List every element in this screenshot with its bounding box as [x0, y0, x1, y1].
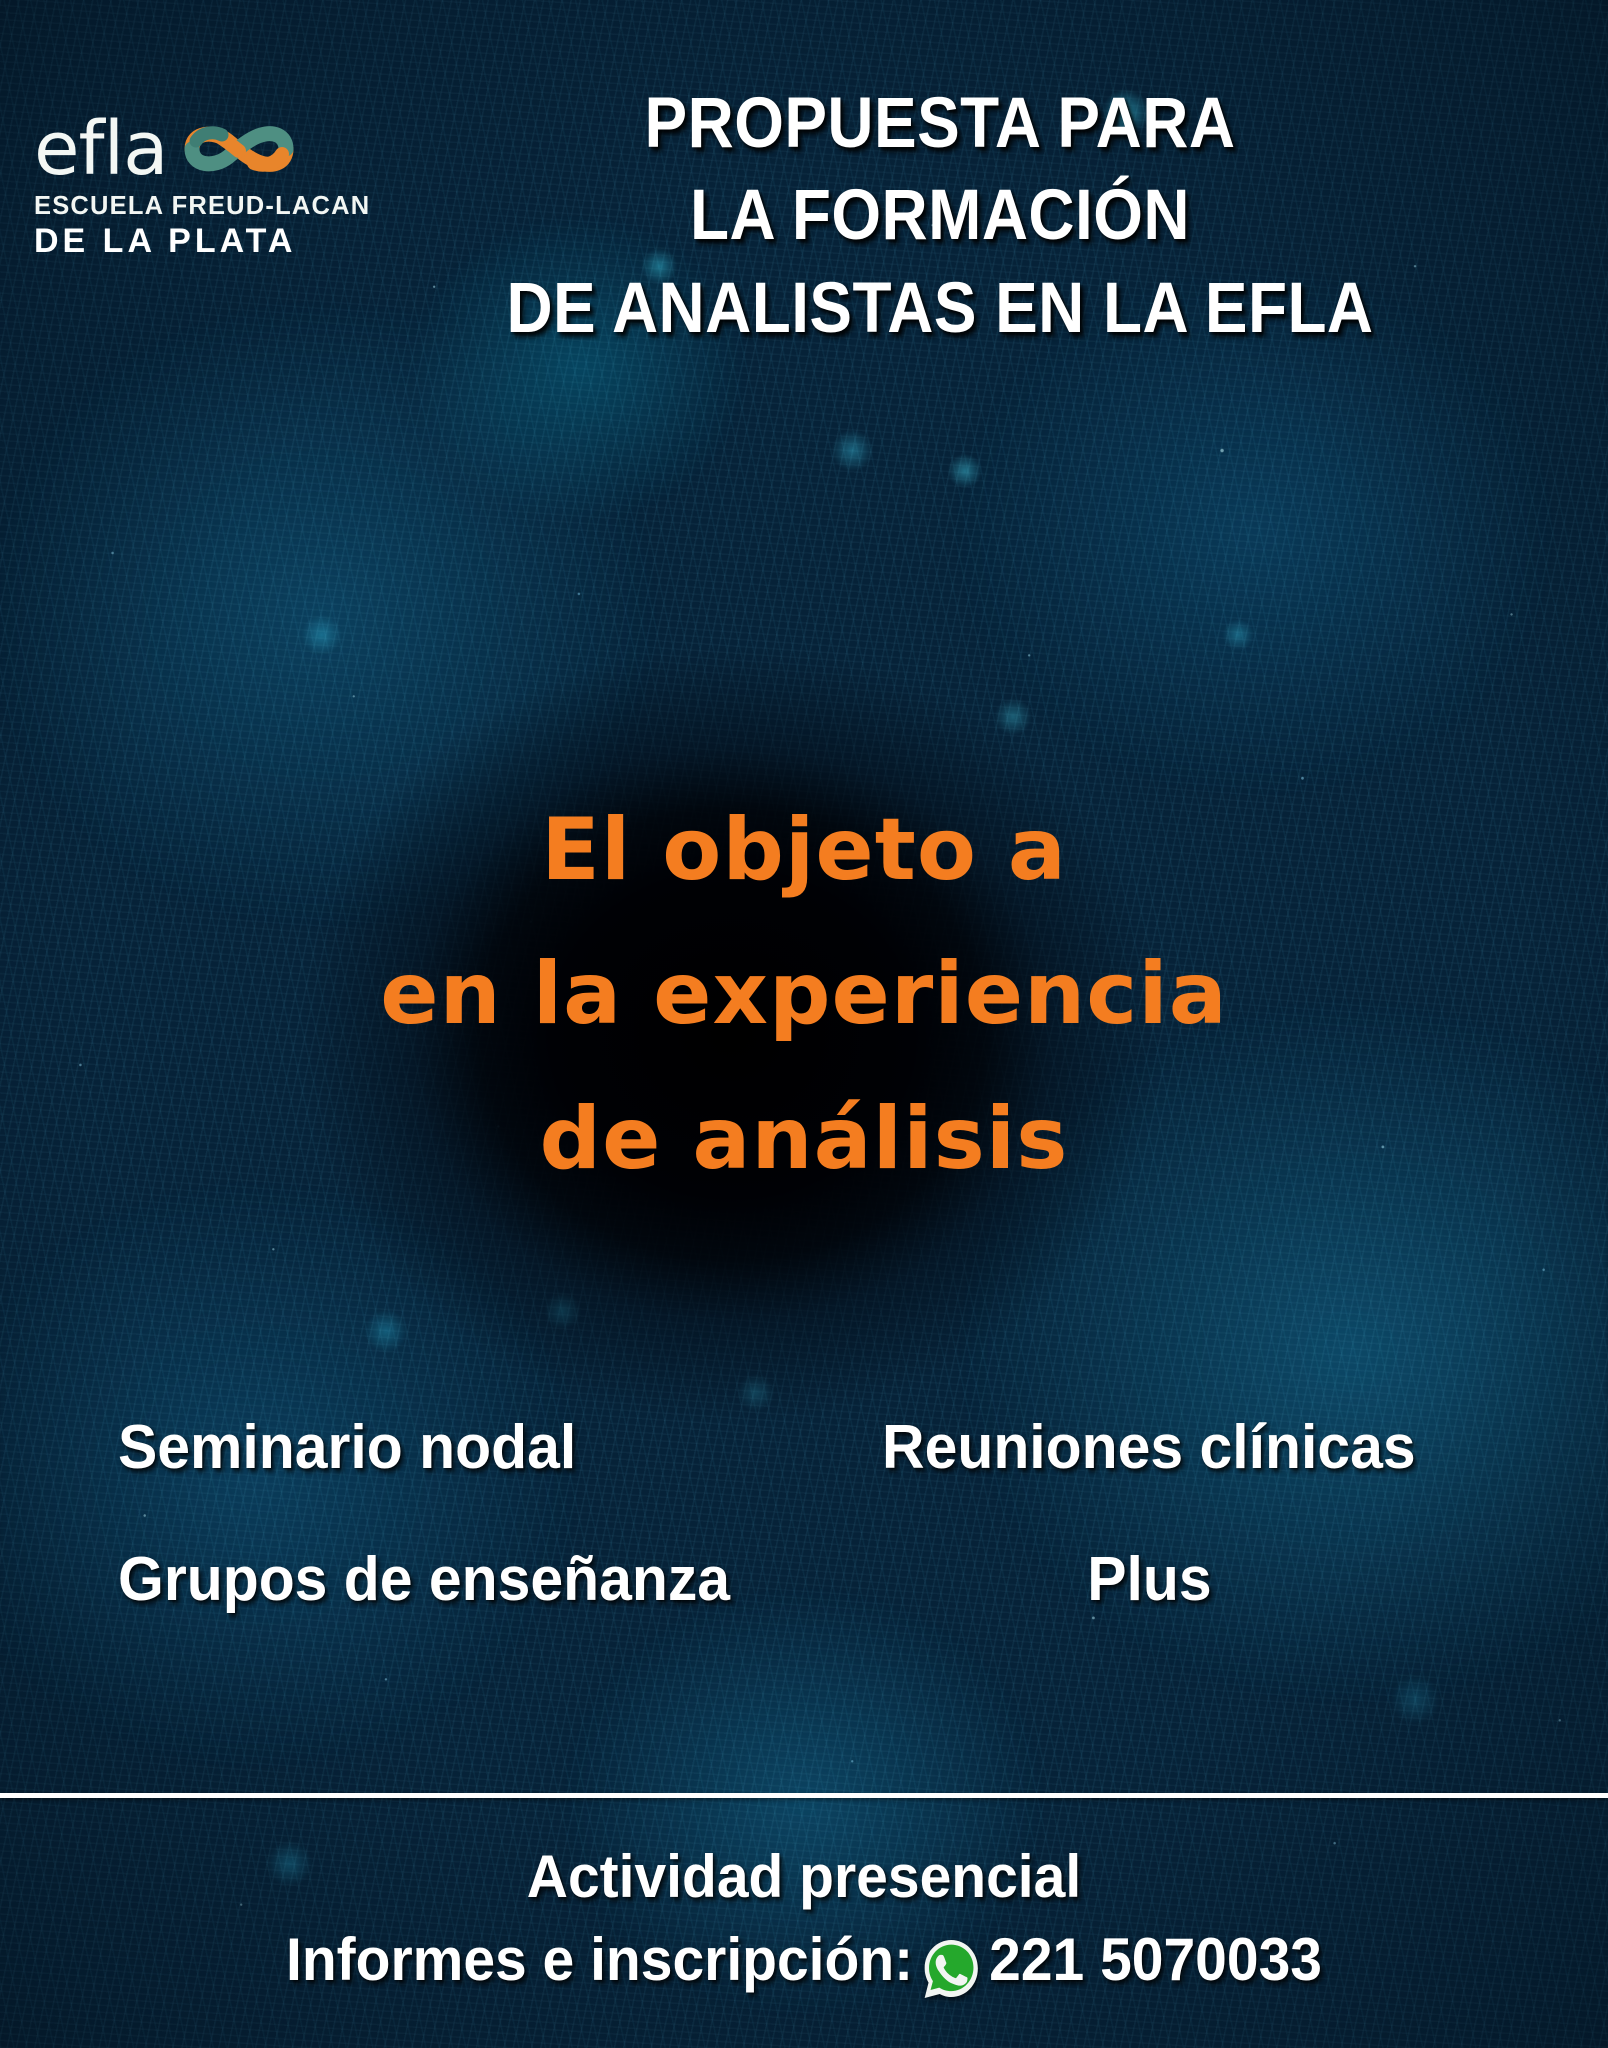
poster: efla ESCUELA FREUD-LACAN DE LA PLATA PRO… — [0, 0, 1608, 2048]
logo-subtitle-line1: ESCUELA FREUD-LACAN — [34, 192, 334, 221]
headline-line-1: PROPUESTA PARA — [364, 78, 1516, 170]
headline-line-3: DE ANALISTAS EN LA EFLA — [364, 263, 1516, 355]
title-line-2: en la experiencia — [0, 922, 1608, 1066]
activity-cell-left: Grupos de enseñanza — [96, 1544, 778, 1615]
footer-phone[interactable]: 221 5070033 — [989, 1919, 1322, 2002]
activity-cell-right: Plus — [778, 1544, 1520, 1615]
contact-inline: Informes e inscripción: 221 5070033 — [286, 1919, 1322, 2002]
activity-cell-left: Seminario nodal — [96, 1412, 778, 1483]
activities-row: Seminario nodal Reuniones clínicas — [96, 1412, 1520, 1544]
activity-seminario-nodal: Seminario nodal — [118, 1412, 576, 1483]
headline-line-2: LA FORMACIÓN — [364, 170, 1516, 262]
activity-cell-right: Reuniones clínicas — [778, 1412, 1520, 1483]
logo-top-row: efla — [34, 112, 334, 186]
activity-plus: Plus — [1087, 1544, 1211, 1615]
headline: PROPUESTA PARA LA FORMACIÓN DE ANALISTAS… — [300, 78, 1580, 355]
footer-contact-label: Informes e inscripción: — [286, 1919, 913, 2002]
title-line-3: de análisis — [0, 1067, 1608, 1211]
main-title: El objeto a en la experiencia de análisi… — [0, 778, 1608, 1211]
horizontal-divider — [0, 1793, 1608, 1798]
efla-logo: efla ESCUELA FREUD-LACAN DE LA PLATA — [34, 112, 334, 261]
activity-grupos-de-ensenanza: Grupos de enseñanza — [118, 1544, 730, 1615]
footer-modality: Actividad presencial — [40, 1836, 1568, 1919]
activity-reuniones-clinicas: Reuniones clínicas — [882, 1412, 1416, 1483]
logo-subtitle-line2: DE LA PLATA — [34, 222, 334, 261]
footer-contact-row: Informes e inscripción: 221 5070033 — [40, 1919, 1568, 2002]
title-line-1: El objeto a — [0, 778, 1608, 922]
infinity-mobius-icon — [180, 118, 296, 180]
whatsapp-icon[interactable] — [921, 1937, 982, 2001]
activities-row: Grupos de enseñanza Plus — [96, 1544, 1520, 1676]
activities-list: Seminario nodal Reuniones clínicas Grupo… — [96, 1412, 1520, 1676]
logo-wordmark: efla — [34, 114, 168, 184]
footer: Actividad presencial Informes e inscripc… — [0, 1836, 1608, 2002]
